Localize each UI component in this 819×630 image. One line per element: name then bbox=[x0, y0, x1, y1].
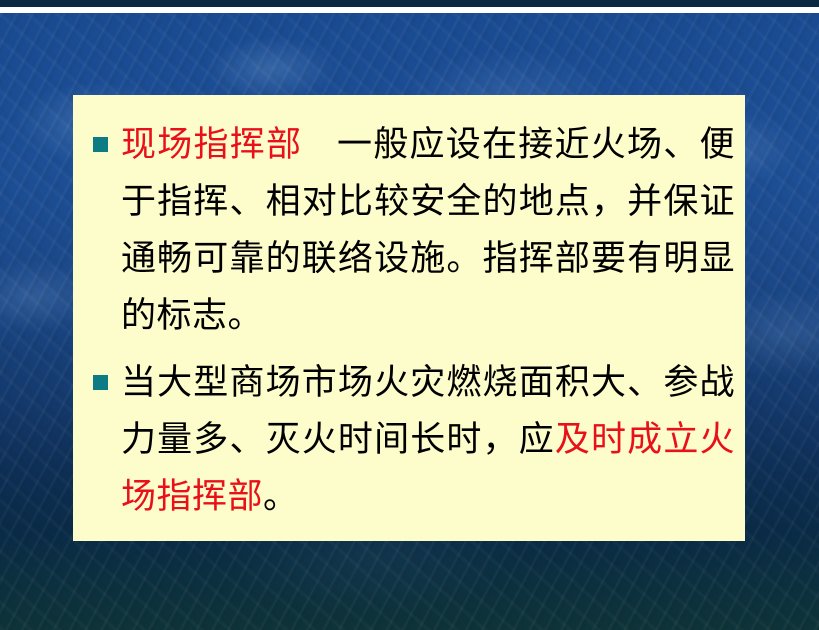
list-item: 当大型商场市场火灾燃烧面积大、参战力量多、灭火时间长时，应及时成立火场指挥部。 bbox=[83, 355, 735, 526]
bullet-1-highlight: 现场指挥部 bbox=[121, 125, 302, 165]
bullet-text-1: 现场指挥部一般应设在接近火场、便于指挥、相对比较安全的地点，并保证通畅可靠的联络… bbox=[121, 117, 735, 345]
bullet-list: 现场指挥部一般应设在接近火场、便于指挥、相对比较安全的地点，并保证通畅可靠的联络… bbox=[83, 117, 735, 526]
bullet-2-body-end: 。 bbox=[263, 477, 299, 517]
list-item: 现场指挥部一般应设在接近火场、便于指挥、相对比较安全的地点，并保证通畅可靠的联络… bbox=[83, 117, 735, 345]
slide-screen: 现场指挥部一般应设在接近火场、便于指挥、相对比较安全的地点，并保证通畅可靠的联络… bbox=[0, 0, 819, 630]
content-panel: 现场指挥部一般应设在接近火场、便于指挥、相对比较安全的地点，并保证通畅可靠的联络… bbox=[73, 95, 745, 541]
square-bullet-icon bbox=[93, 137, 108, 152]
top-border-strip bbox=[0, 0, 819, 7]
bullet-text-2: 当大型商场市场火灾燃烧面积大、参战力量多、灭火时间长时，应及时成立火场指挥部。 bbox=[121, 355, 735, 526]
square-bullet-icon bbox=[93, 375, 108, 390]
slide-background: 现场指挥部一般应设在接近火场、便于指挥、相对比较安全的地点，并保证通畅可靠的联络… bbox=[0, 13, 819, 630]
